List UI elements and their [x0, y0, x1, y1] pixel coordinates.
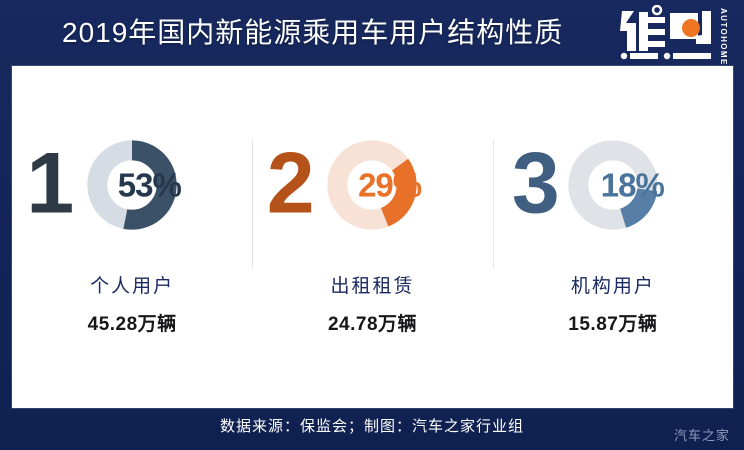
- rank-number-3: 3: [512, 140, 558, 226]
- percent-label-3: 18%: [601, 169, 664, 202]
- amount-value-1: 45.28万辆: [12, 312, 252, 337]
- donut-chart-1: 1 53%: [12, 110, 252, 260]
- category-label-1: 个人用户: [12, 274, 252, 300]
- category-label-2: 出租租赁: [252, 274, 492, 300]
- donut-chart-3: 3 18%: [493, 110, 733, 260]
- amount-value-3: 15.87万辆: [493, 312, 733, 337]
- page-title: 2019年国内新能源乘用车用户结构性质: [62, 12, 563, 54]
- autohome-logo-mark: [612, 5, 718, 63]
- stat-column-1: 1 53% 个人用户 45.28万辆: [12, 66, 252, 408]
- stat-column-2: 2 29% 出租租赁 24.78万辆: [252, 66, 492, 408]
- poster-footer: 数据来源：保监会；制图：汽车之家行业组 汽车之家: [0, 408, 744, 450]
- rank-number-1: 1: [26, 140, 72, 226]
- infographic-poster: 2019年国内新能源乘用车用户结构性质: [0, 0, 744, 450]
- stat-column-3: 3 18% 机构用户 15.87万辆: [493, 66, 733, 408]
- category-label-3: 机构用户: [493, 274, 733, 300]
- percent-label-2: 29%: [358, 169, 421, 202]
- content-card: 1 53% 个人用户 45.28万辆 2: [12, 66, 733, 408]
- autohome-logo: AUTOHOME: [612, 5, 730, 63]
- logo-orange-dot: [682, 19, 700, 37]
- watermark-label: 汽车之家: [674, 428, 730, 444]
- amount-value-2: 24.78万辆: [252, 312, 492, 337]
- stat-columns: 1 53% 个人用户 45.28万辆 2: [12, 66, 733, 408]
- stat-labels-1: 个人用户 45.28万辆: [12, 274, 252, 337]
- poster-header: 2019年国内新能源乘用车用户结构性质: [0, 0, 744, 66]
- stat-labels-2: 出租租赁 24.78万辆: [252, 274, 492, 337]
- stat-labels-3: 机构用户 15.87万辆: [493, 274, 733, 337]
- percent-label-1: 53%: [118, 169, 181, 202]
- logo-wordmark: AUTOHOME: [718, 8, 729, 62]
- source-note: 数据来源：保监会；制图：汽车之家行业组: [0, 416, 744, 438]
- donut-chart-2: 2 29%: [252, 110, 492, 260]
- rank-number-2: 2: [267, 140, 313, 226]
